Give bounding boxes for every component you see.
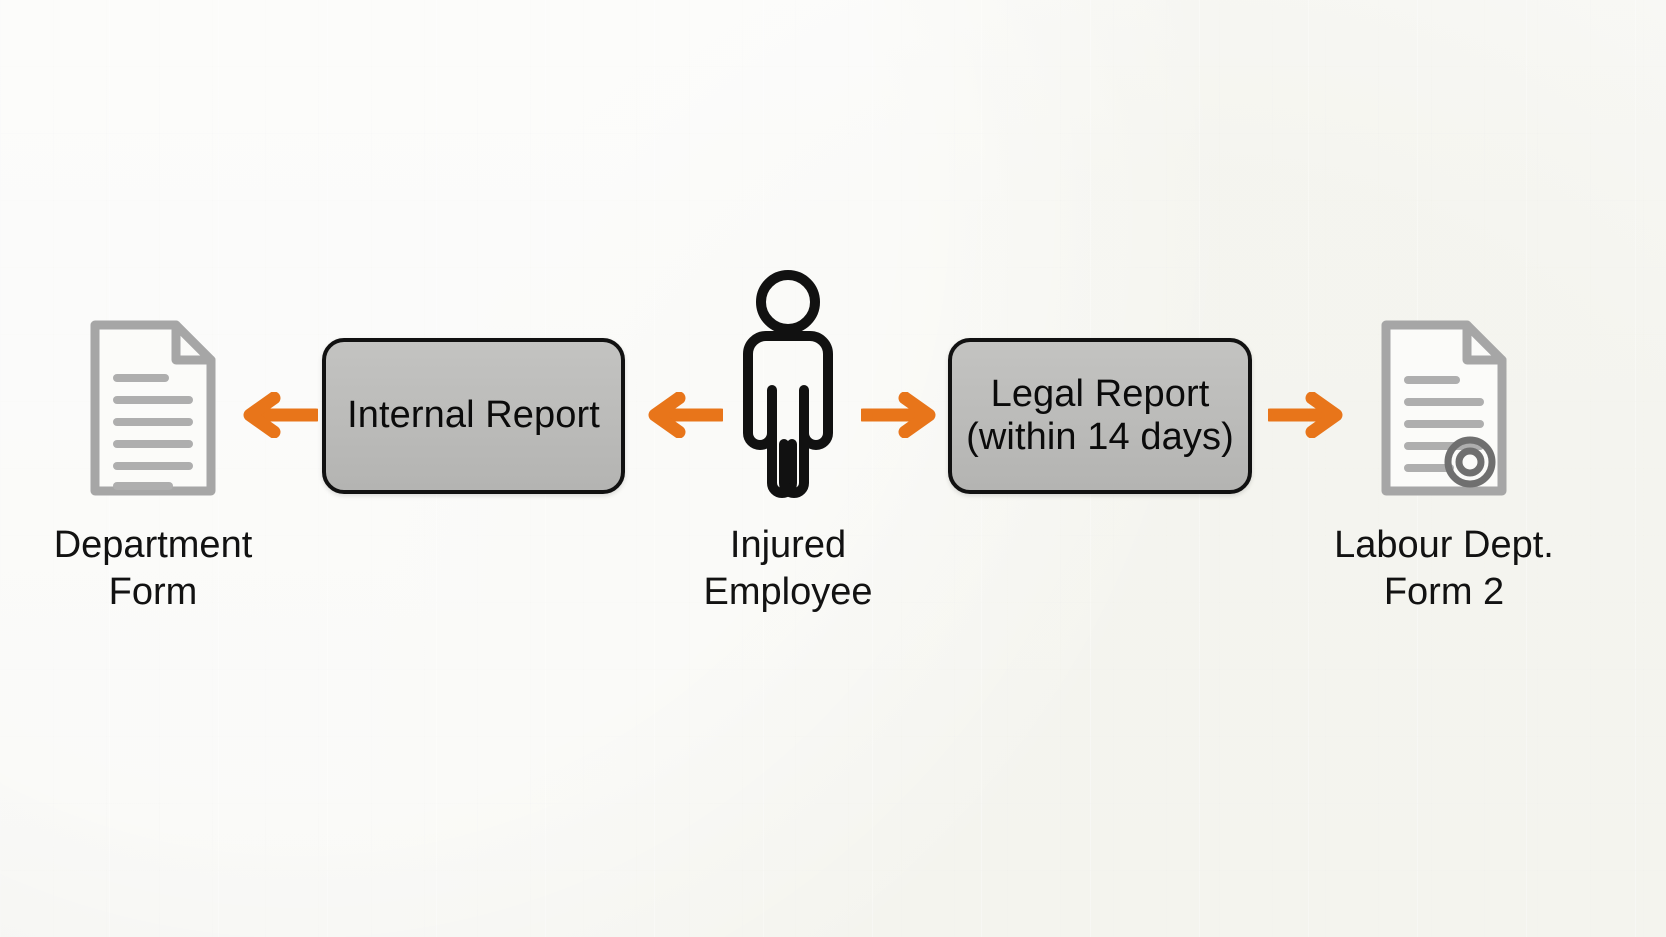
department-form-caption: Department Form: [8, 522, 298, 615]
legal-report-label: Legal Report (within 14 days): [954, 373, 1246, 460]
document-seal-icon: [1379, 318, 1509, 498]
arrow-employee-to-legal-report: [861, 392, 943, 438]
person-icon: [727, 268, 849, 503]
document-lines-icon: [88, 318, 218, 498]
legal-report-box[interactable]: Legal Report (within 14 days): [948, 338, 1252, 494]
arrow-internal-report-to-department-form: [236, 392, 318, 438]
arrow-employee-to-internal-report: [641, 392, 723, 438]
injured-employee-caption: Injured Employee: [648, 522, 928, 615]
labour-dept-form-caption: Labour Dept. Form 2: [1294, 522, 1594, 615]
internal-report-label: Internal Report: [335, 394, 612, 437]
internal-report-box[interactable]: Internal Report: [322, 338, 625, 494]
diagram-canvas: Department Form Internal Report Injured …: [0, 0, 1666, 937]
arrow-legal-report-to-labour-dept-form: [1268, 392, 1350, 438]
